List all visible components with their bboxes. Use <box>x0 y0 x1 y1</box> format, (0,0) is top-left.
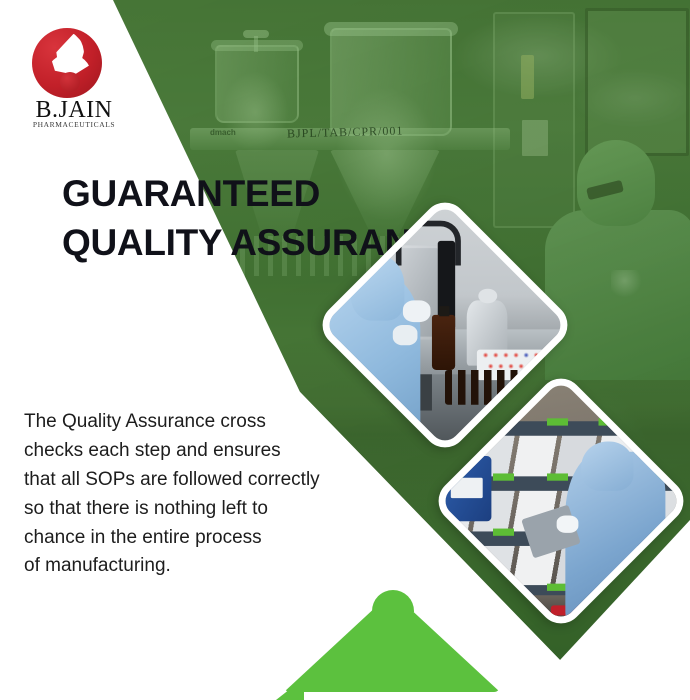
brand-tagline: PHARMACEUTICALS <box>20 120 128 129</box>
poster-canvas: dmach BJPL/TAB/CPR/001 B.JAIN PHARMACEUT… <box>0 0 690 700</box>
body-paragraph: The Quality Assurance cross checks each … <box>24 408 364 581</box>
bjain-logo-icon <box>32 28 102 98</box>
brand-name: B.JAIN <box>20 98 128 122</box>
brand-logo[interactable]: B.JAIN PHARMACEUTICALS <box>20 28 128 133</box>
